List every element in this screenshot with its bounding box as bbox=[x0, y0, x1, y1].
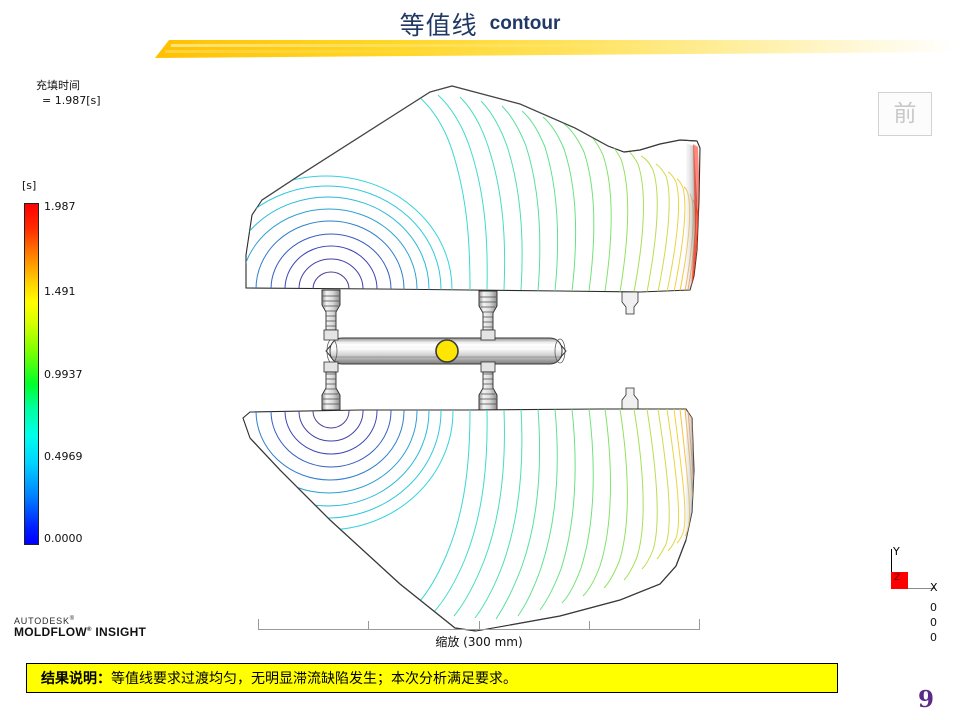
logo-reg-1: ® bbox=[70, 616, 75, 622]
z-axis-label: Z bbox=[894, 573, 900, 583]
result-caption-prefix: 结果说明： bbox=[41, 671, 111, 687]
result-caption-box: 结果说明：等值线要求过渡均匀，无明显滞流缺陷发生；本次分析满足要求。 bbox=[26, 663, 838, 693]
runner-system[interactable] bbox=[322, 290, 638, 410]
result-caption-body: 等值线要求过渡均匀，无明显滞流缺陷发生；本次分析满足要求。 bbox=[111, 671, 517, 687]
sprue-upper-left bbox=[322, 290, 340, 330]
sprue-lower-right bbox=[479, 372, 497, 410]
injection-location-marker[interactable] bbox=[436, 340, 458, 362]
coord-y: 0 bbox=[930, 615, 937, 630]
logo-moldflow-insight: MOLDFLOW® INSIGHT bbox=[14, 626, 146, 640]
logo-moldflow-text: MOLDFLOW bbox=[14, 625, 87, 639]
logo-insight-text: INSIGHT bbox=[95, 625, 146, 639]
result-caption-text: 结果说明：等值线要求过渡均匀，无明显滞流缺陷发生；本次分析满足要求。 bbox=[27, 668, 517, 688]
scale-tick-end bbox=[699, 619, 700, 630]
autodesk-moldflow-logo: AUTODESK® MOLDFLOW® INSIGHT bbox=[14, 616, 146, 640]
slide-canvas: 等值线contour 充填时间 = 1.987[s] [s] 1.987 1.4… bbox=[0, 0, 960, 720]
scale-tick-2 bbox=[479, 621, 480, 630]
contour-plot-viewport[interactable] bbox=[0, 0, 960, 720]
scale-ruler bbox=[258, 617, 700, 631]
coord-x: 0 bbox=[930, 600, 937, 615]
origin-coordinates: 0 0 0 bbox=[930, 600, 937, 645]
y-axis-label: Y bbox=[893, 545, 900, 558]
page-number: 9 bbox=[918, 686, 934, 713]
logo-reg-2: ® bbox=[87, 627, 92, 633]
x-axis-label: X bbox=[930, 581, 938, 594]
sprue-upper-right bbox=[479, 291, 497, 330]
upper-cavity-outline bbox=[246, 86, 700, 292]
cold-slug-lower bbox=[622, 388, 638, 409]
cold-slug-upper bbox=[622, 292, 638, 314]
coord-z: 0 bbox=[930, 630, 937, 645]
scale-tick-1 bbox=[368, 621, 369, 630]
scale-tick-start bbox=[258, 619, 259, 630]
scale-tick-3 bbox=[589, 621, 590, 630]
sprue-lower-left bbox=[322, 372, 340, 410]
scale-ruler-label: 缩放 (300 mm) bbox=[258, 633, 700, 650]
axis-triad: Z Y X 0 0 0 bbox=[884, 545, 954, 640]
